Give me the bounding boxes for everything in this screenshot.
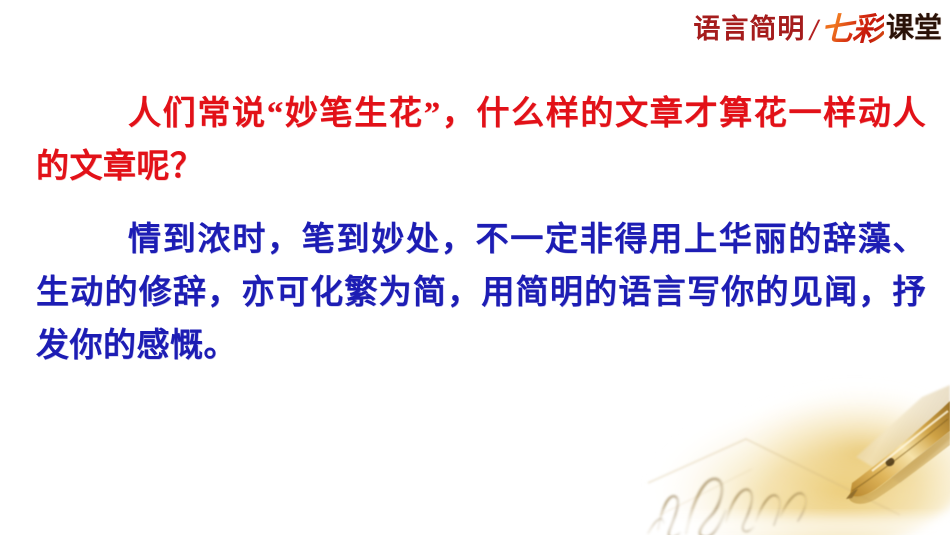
paper-glow — [645, 395, 950, 535]
fountain-pen-decoration-image — [600, 365, 950, 535]
logo-title-text: 语言简明 — [693, 16, 805, 43]
pen-nib-body — [850, 401, 950, 497]
pen-nib-slit — [852, 419, 948, 491]
paragraph-answer: 情到浓时，笔到妙处，不一定非得用上华丽的辞藻、生动的修辞，亦可化繁为简，用简明的… — [36, 214, 926, 373]
pen-breather-hole — [884, 456, 896, 468]
fountain-pen-icon — [600, 365, 950, 535]
pen-barrel — [856, 385, 950, 483]
paper-glow-secondary — [730, 383, 950, 507]
logo-brand-qicai-text: 七彩 — [820, 13, 884, 45]
pen-nib-tip — [846, 489, 858, 499]
slide-canvas: 语言简明 / 七彩 课堂 人们常说“妙笔生花”，什么样的文章才算花一样动人的文章… — [0, 0, 950, 535]
handwriting-script — [648, 479, 806, 535]
paragraph-question: 人们常说“妙笔生花”，什么样的文章才算花一样动人的文章呢？ — [36, 88, 926, 194]
pen-nib-highlight — [872, 411, 948, 471]
brand-logo: 语言简明 / 七彩 课堂 — [693, 6, 942, 52]
pen-nib-shadow — [849, 431, 950, 504]
logo-brand-ketang-text: 课堂 — [886, 15, 942, 43]
paper-edge-lines — [648, 439, 900, 515]
artwork-bottom-fade — [600, 515, 950, 535]
